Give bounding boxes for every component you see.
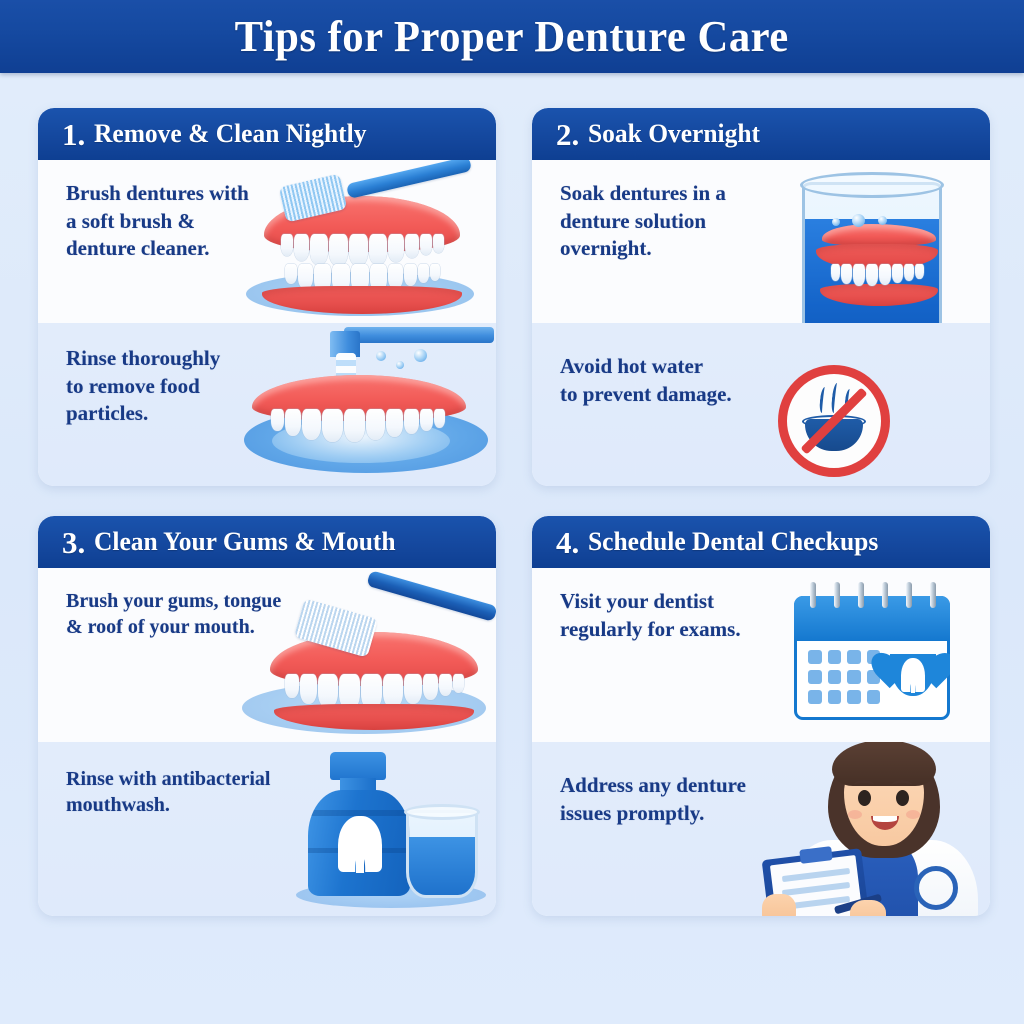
tip-card-3-bottom-text: Rinse with antibacterial mouthwash. [66, 766, 270, 819]
denture-upper-teeth [258, 409, 458, 443]
calendar-ring [810, 582, 816, 608]
calendar-body [794, 596, 950, 720]
mouthwash-bottle [308, 790, 410, 896]
water-bubble [376, 351, 386, 361]
tip-card-4-header: 4. Schedule Dental Checkups [532, 516, 990, 568]
calendar-ring [906, 582, 912, 608]
tip-card-2-bottom-panel: Avoid hot water to prevent damage. [532, 323, 990, 486]
tip-card-1-inner: 1. Remove & Clean Nightly Brush dentures… [38, 108, 496, 486]
tip-card-1-header: 1. Remove & Clean Nightly [38, 108, 496, 160]
tooth-glyph [901, 658, 925, 692]
dentist-cheek [906, 810, 920, 819]
tip-card-3-bottom-panel: Rinse with antibacterial mouthwash. [38, 742, 496, 916]
tip-card-4-top-text: Visit your dentist regularly for exams. [560, 588, 741, 643]
calendar-ring [858, 582, 864, 608]
tips-grid: 1. Remove & Clean Nightly Brush dentures… [38, 108, 990, 916]
tip-card-4-number: 4. [556, 527, 579, 558]
denture-under-running-water-illustration [238, 323, 494, 486]
calendar-ring [882, 582, 888, 608]
tip-card-4-heading: Schedule Dental Checkups [588, 529, 878, 555]
dentist-eyebrow [892, 780, 912, 790]
solution-bubble [852, 214, 865, 227]
dentist-hair-top [832, 742, 936, 786]
mouthwash-bottle-and-glass-illustration [288, 750, 496, 916]
dentist-eye [896, 790, 909, 806]
dentist-left-hand [762, 894, 796, 916]
calendar-ring [834, 582, 840, 608]
tip-card-4-inner: 4. Schedule Dental Checkups Visit your d… [532, 516, 990, 916]
tip-card-1-bottom-text: Rinse thoroughly to remove food particle… [66, 345, 220, 428]
tip-card-3-top-text: Brush your gums, tongue & roof of your m… [66, 588, 281, 641]
tip-card-3-number: 3. [62, 527, 85, 558]
heart-tooth-icon [890, 654, 936, 696]
calendar-header-bar [794, 596, 950, 641]
tip-card-1-heading: Remove & Clean Nightly [94, 121, 366, 147]
rinse-glass [406, 810, 478, 898]
tip-card-2[interactable]: 2. Soak Overnight Soak dentures in a den… [532, 108, 990, 486]
dentist-eye [858, 790, 871, 806]
title-banner: Tips for Proper Denture Care [0, 0, 1024, 73]
dentist-right-hand [850, 900, 886, 916]
tip-card-2-top-panel: Soak dentures in a denture solution over… [532, 160, 990, 323]
tip-card-3-inner: 3. Clean Your Gums & Mouth Brush your gu… [38, 516, 496, 916]
tip-card-2-number: 2. [556, 119, 579, 150]
tip-card-4[interactable]: 4. Schedule Dental Checkups Visit your d… [532, 516, 990, 916]
bottle-cap [330, 752, 386, 780]
dental-calendar-icon [772, 582, 972, 730]
tip-card-1[interactable]: 1. Remove & Clean Nightly Brush dentures… [38, 108, 496, 486]
tooth-logo-icon [338, 816, 382, 872]
glass-rim [800, 172, 944, 198]
tip-card-2-heading: Soak Overnight [588, 121, 760, 147]
tip-card-4-bottom-text: Address any denture issues promptly. [560, 772, 746, 827]
tip-card-1-top-text: Brush dentures with a soft brush & dentu… [66, 180, 249, 263]
solution-bubble [878, 216, 887, 225]
tip-card-3-heading: Clean Your Gums & Mouth [94, 529, 396, 555]
tip-card-2-inner: 2. Soak Overnight Soak dentures in a den… [532, 108, 990, 486]
faucet-arm [344, 327, 494, 343]
solution-bubble [832, 218, 840, 226]
dentist-eyebrow [854, 780, 874, 790]
tip-card-2-header: 2. Soak Overnight [532, 108, 990, 160]
calendar-day-grid [808, 650, 880, 704]
water-bubble [396, 361, 404, 369]
tip-card-2-top-text: Soak dentures in a denture solution over… [560, 180, 726, 263]
denture-upper-teeth [270, 234, 454, 268]
tip-card-2-bottom-text: Avoid hot water to prevent damage. [560, 353, 732, 408]
tip-card-3-top-panel: Brush your gums, tongue & roof of your m… [38, 568, 496, 742]
denture-teeth [820, 264, 934, 288]
dentist-with-clipboard-illustration [758, 742, 990, 916]
denture-with-toothbrush-illustration [238, 164, 488, 323]
tip-card-1-bottom-panel: Rinse thoroughly to remove food particle… [38, 323, 496, 486]
no-hot-water-prohibition-icon [778, 365, 890, 477]
toothbrush-handle [366, 570, 496, 622]
denture-soaking-in-glass-illustration [780, 168, 970, 323]
tip-card-3-header: 3. Clean Your Gums & Mouth [38, 516, 496, 568]
stethoscope-icon [914, 866, 958, 910]
glass-liquid [409, 837, 475, 895]
page-title: Tips for Proper Denture Care [235, 11, 789, 62]
tip-card-4-bottom-panel: Address any denture issues promptly. [532, 742, 990, 916]
tip-card-4-top-panel: Visit your dentist regularly for exams. [532, 568, 990, 742]
tip-card-1-top-panel: Brush dentures with a soft brush & dentu… [38, 160, 496, 323]
tip-card-3[interactable]: 3. Clean Your Gums & Mouth Brush your gu… [38, 516, 496, 916]
toothbrush-handle [346, 160, 472, 199]
calendar-ring [930, 582, 936, 608]
water-bubble [414, 349, 427, 362]
glass-rim [404, 804, 480, 820]
dentist-cheek [848, 810, 862, 819]
tip-card-1-number: 1. [62, 119, 85, 150]
